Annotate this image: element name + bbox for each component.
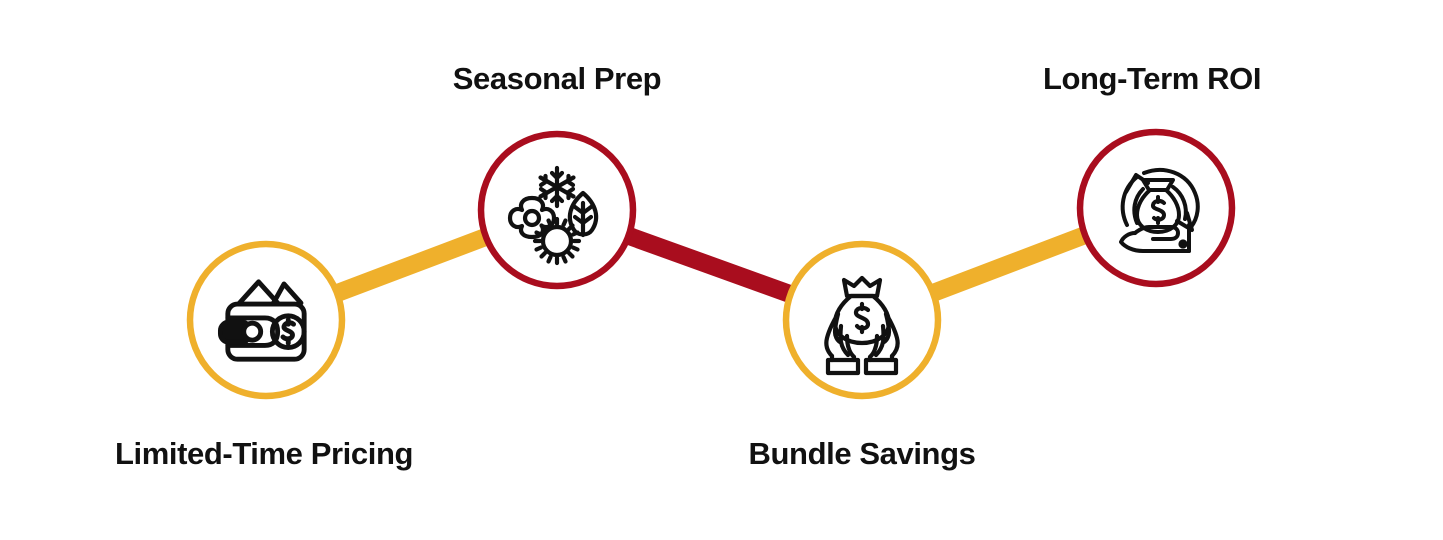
node-label-limited-time-pricing: Limited-Time Pricing: [115, 437, 413, 471]
connector-group: [266, 208, 1156, 320]
node-label-seasonal-prep: Seasonal Prep: [453, 62, 661, 96]
node-seasonal-prep[interactable]: [481, 134, 633, 286]
node-long-term-roi[interactable]: [1080, 132, 1232, 284]
node-limited-time-pricing[interactable]: [190, 244, 342, 396]
node-bundle-savings[interactable]: [786, 244, 938, 396]
node-label-long-term-roi: Long-Term ROI: [1043, 62, 1261, 96]
node-label-bundle-savings: Bundle Savings: [749, 437, 976, 471]
infographic-canvas: Limited-Time Pricing Seasonal Prep Bundl…: [0, 0, 1443, 540]
